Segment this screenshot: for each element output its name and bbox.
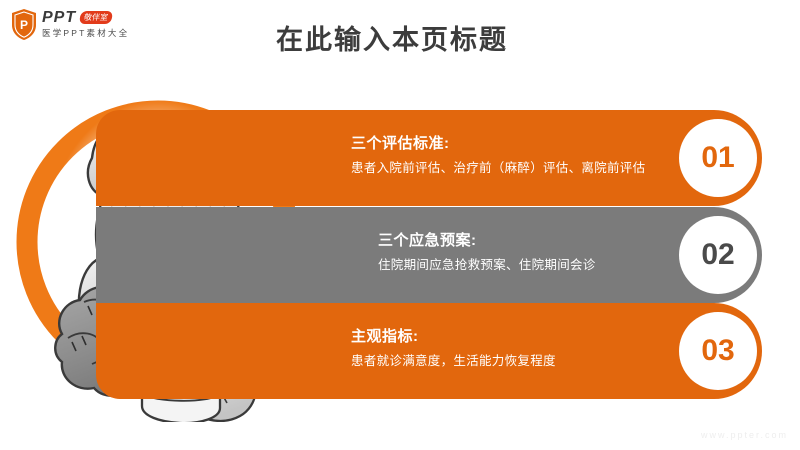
row-3-heading: 主观指标: [351,326,556,347]
row-2-description: 住院期间应急抢救预案、住院期间会诊 [378,256,596,274]
content-row-2[interactable]: 三个应急预案: 住院期间应急抢救预案、住院期间会诊 02 [96,207,762,303]
shield-icon: P [10,8,38,41]
page-title: 在此输入本页标题 [276,18,508,57]
row-2-number-badge: 02 [679,216,757,294]
row-2-text: 三个应急预案: 住院期间应急抢救预案、住院期间会诊 [378,230,596,274]
row-1-number-badge: 01 [679,119,757,197]
row-1-description: 患者入院前评估、治疗前（麻醉）评估、离院前评估 [351,159,645,177]
logo-title-row: PPT 敬伴室 [42,9,148,26]
logo-text-group: PPT 敬伴室 医学PPT素材大全 [42,9,148,39]
content-rows: 三个评估标准: 患者入院前评估、治疗前（麻醉）评估、离院前评估 01 三个应急预… [0,110,800,402]
watermark: www.ppter.com [701,430,788,440]
logo-brand-text: PPT [42,10,76,26]
row-3-text: 主观指标: 患者就诊满意度，生活能力恢复程度 [351,326,556,370]
row-3-description: 患者就诊满意度，生活能力恢复程度 [351,352,556,370]
logo-subtitle: 医学PPT素材大全 [42,27,148,39]
content-row-1[interactable]: 三个评估标准: 患者入院前评估、治疗前（麻醉）评估、离院前评估 01 [96,110,762,206]
row-1-text: 三个评估标准: 患者入院前评估、治疗前（麻醉）评估、离院前评估 [351,133,645,177]
content-row-3[interactable]: 主观指标: 患者就诊满意度，生活能力恢复程度 03 [96,303,762,399]
row-1-heading: 三个评估标准: [351,133,645,154]
brand-logo[interactable]: P PPT 敬伴室 医学PPT素材大全 [10,8,150,44]
row-2-heading: 三个应急预案: [378,230,596,251]
slide-canvas: P PPT 敬伴室 医学PPT素材大全 在此输入本页标题 [0,0,800,450]
logo-badge: 敬伴室 [79,11,113,24]
row-3-number-badge: 03 [679,312,757,390]
shield-letter: P [20,18,28,32]
